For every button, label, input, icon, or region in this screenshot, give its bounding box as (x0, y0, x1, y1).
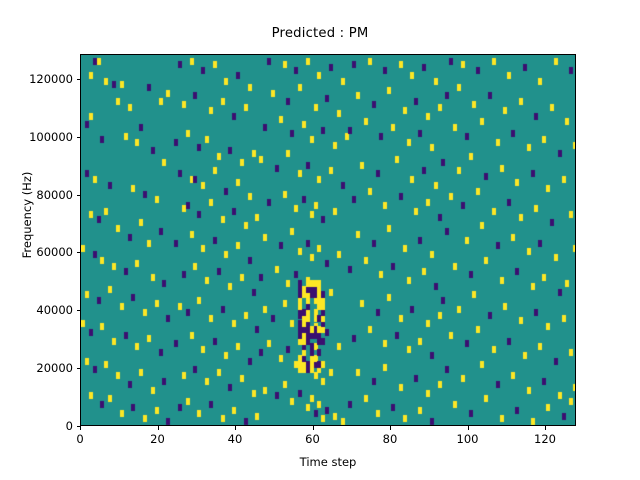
x-tick-label: 0 (50, 432, 110, 446)
x-tick-mark (158, 426, 159, 430)
x-tick-mark (468, 426, 469, 430)
y-tick-label: 20000 (3, 361, 73, 375)
y-tick-mark (77, 79, 81, 80)
y-tick-label: 60000 (3, 245, 73, 259)
x-axis-label: Time step (80, 455, 576, 469)
y-tick-label: 80000 (3, 188, 73, 202)
y-tick-mark (77, 252, 81, 253)
x-tick-label: 60 (283, 432, 343, 446)
x-tick-mark (545, 426, 546, 430)
x-tick-label: 100 (438, 432, 498, 446)
x-tick-label: 80 (360, 432, 420, 446)
y-tick-label: 100000 (3, 130, 73, 144)
x-tick-mark (390, 426, 391, 430)
y-tick-mark (77, 310, 81, 311)
x-tick-mark (235, 426, 236, 430)
y-tick-mark (77, 137, 81, 138)
x-tick-label: 20 (128, 432, 188, 446)
heatmap-axes (80, 54, 576, 426)
y-tick-mark (77, 368, 81, 369)
x-tick-label: 40 (205, 432, 265, 446)
matplotlib-figure: Predicted : PM Frequency (Hz) Time step … (0, 0, 640, 480)
heatmap-canvas (81, 55, 576, 426)
y-tick-mark (77, 426, 81, 427)
y-tick-label: 120000 (3, 72, 73, 86)
y-tick-mark (77, 195, 81, 196)
x-tick-mark (313, 426, 314, 430)
y-tick-label: 0 (3, 419, 73, 433)
page-title: Predicted : PM (0, 26, 640, 41)
y-tick-label: 40000 (3, 303, 73, 317)
x-tick-mark (80, 426, 81, 430)
x-tick-label: 120 (515, 432, 575, 446)
